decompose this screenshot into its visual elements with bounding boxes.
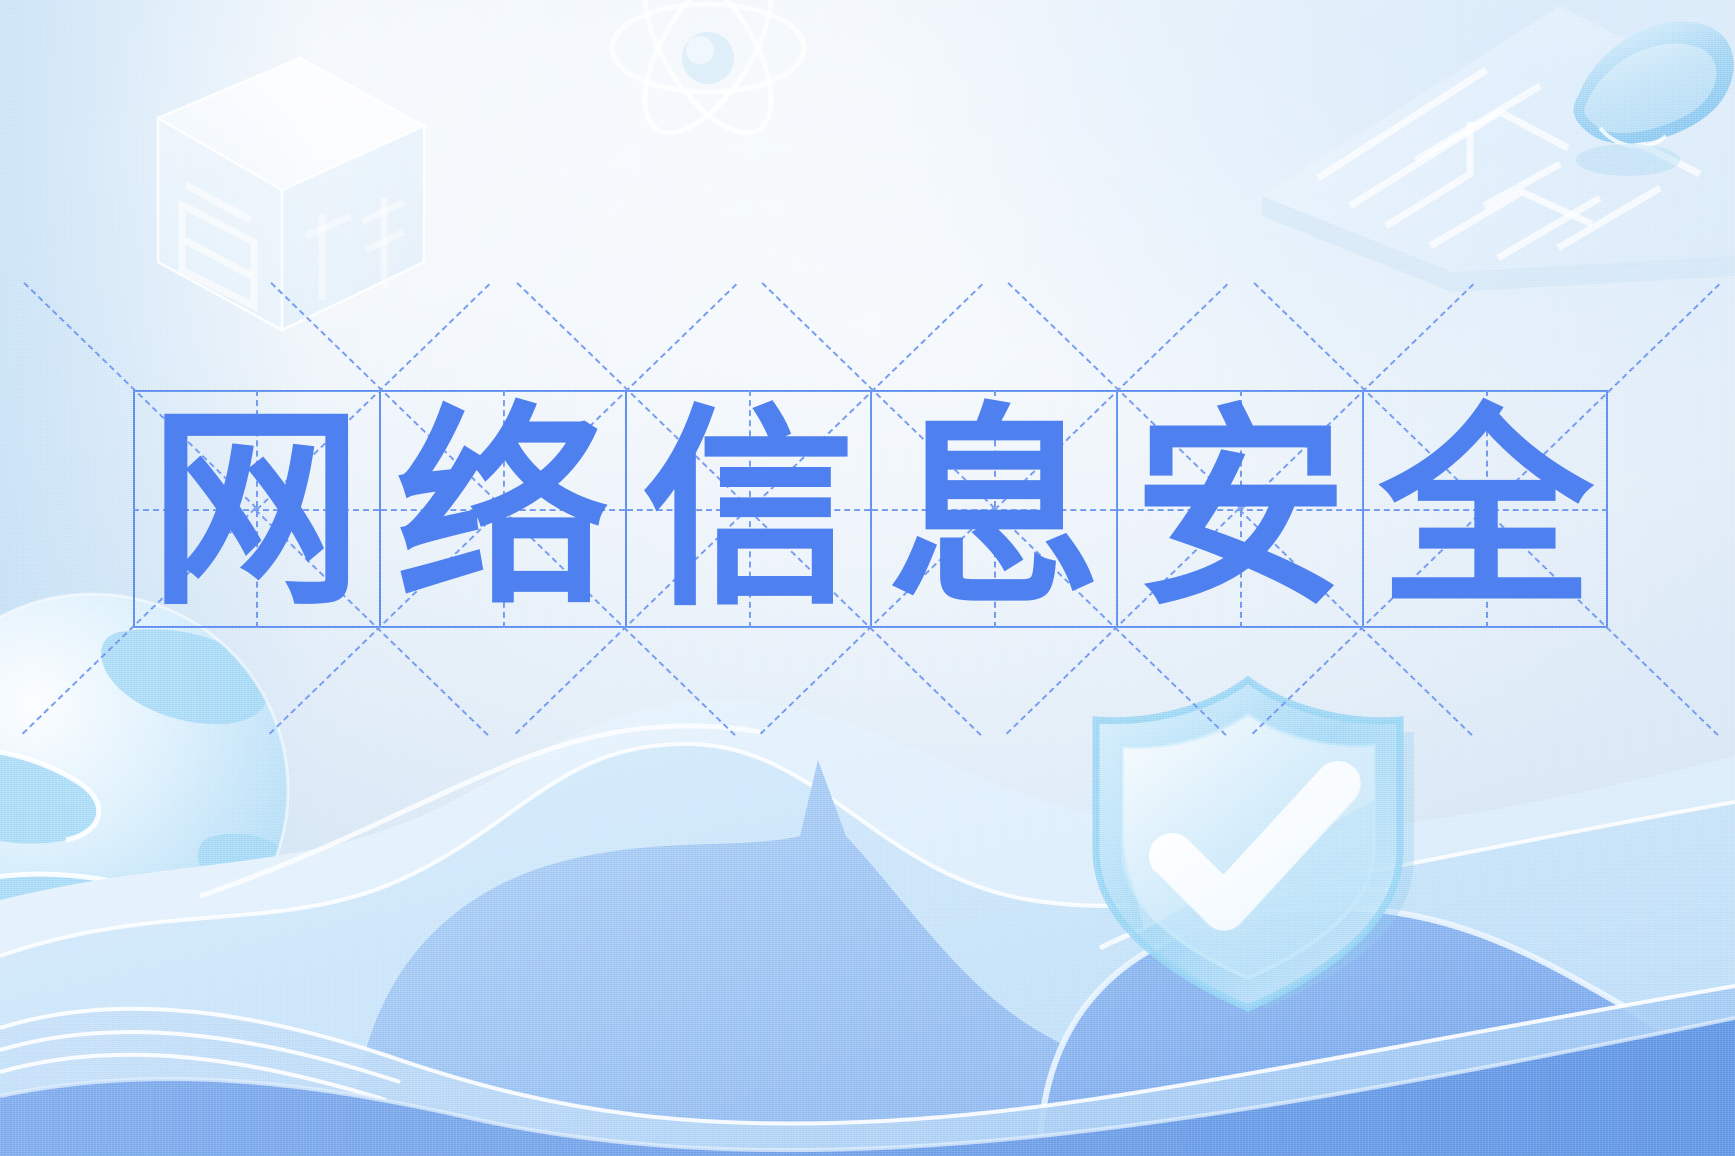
- grid-cell-2: 络: [379, 390, 625, 628]
- grid-cell-3: 信: [625, 390, 871, 628]
- grid-cell-6: 全: [1362, 390, 1608, 628]
- grid-cell-1: 网: [133, 390, 379, 628]
- title-character: 息: [887, 404, 1101, 618]
- title-character: 安: [1133, 404, 1347, 618]
- title-character: 信: [642, 404, 856, 618]
- title-character: 网: [149, 404, 363, 618]
- title-character: 络: [396, 404, 610, 618]
- grid-cell-5: 安: [1116, 390, 1362, 628]
- character-grid: 网 络 信 息: [133, 390, 1608, 628]
- banner-canvas: 网 络 信 息: [0, 0, 1735, 1156]
- title-character: 全: [1379, 404, 1593, 618]
- grid-cell-4: 息: [870, 390, 1116, 628]
